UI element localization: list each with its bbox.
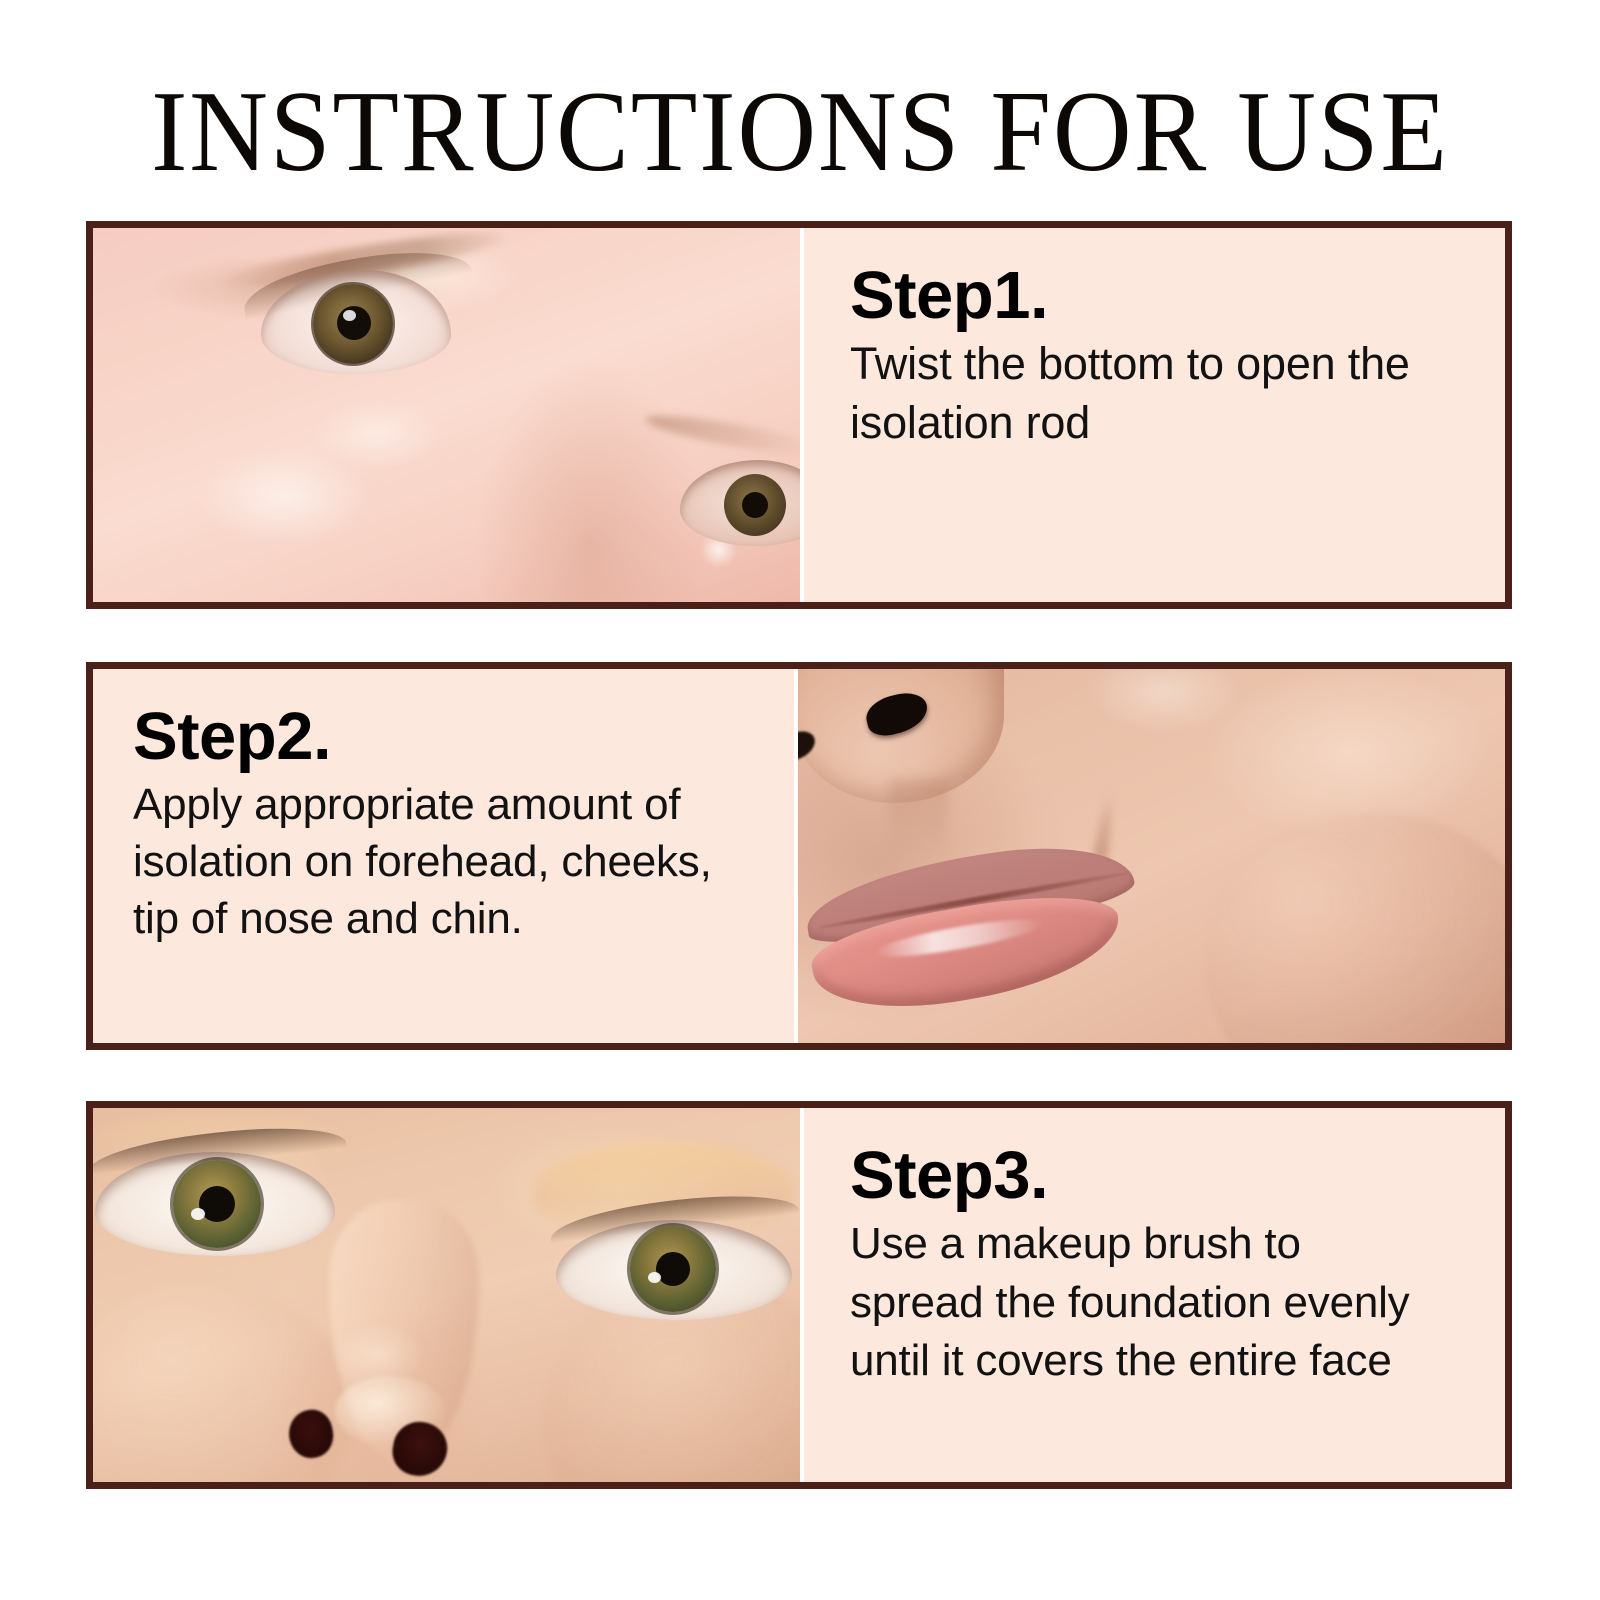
pupil-secondary-shape <box>742 492 768 518</box>
pupil-left-shape <box>199 1186 235 1222</box>
step-2-photo <box>794 669 1505 1043</box>
step-2-heading: Step2. <box>133 703 754 770</box>
eyebrow-secondary-shape <box>643 409 804 462</box>
step-1-body: Twist the bottom to open the isolation r… <box>850 335 1465 452</box>
philtrum-shape <box>890 779 948 859</box>
eye-right-glint <box>648 1272 661 1283</box>
eye-left-glint <box>191 1208 205 1220</box>
step-panel-3: Step3. Use a makeup brush to spread the … <box>86 1101 1512 1489</box>
panel-divider <box>800 1108 804 1482</box>
step-3-body: Use a makeup brush to spread the foundat… <box>850 1215 1465 1391</box>
eye-secondary-shape <box>680 460 804 546</box>
step-1-text-block: Step1. Twist the bottom to open the isol… <box>804 228 1505 602</box>
step-1-photo <box>93 228 804 602</box>
step-3-heading: Step3. <box>850 1142 1465 1209</box>
step-3-text-block: Step3. Use a makeup brush to spread the … <box>804 1108 1505 1482</box>
step-1-heading: Step1. <box>850 262 1465 329</box>
step-2-body: Apply appropriate amount of isolation on… <box>133 776 754 948</box>
panel-divider <box>794 669 798 1043</box>
step-3-photo <box>93 1108 804 1482</box>
pupil-right-shape <box>656 1252 690 1286</box>
step-2-text-block: Step2. Apply appropriate amount of isola… <box>93 669 794 1043</box>
step-panel-1: Step1. Twist the bottom to open the isol… <box>86 221 1512 609</box>
page-title: INSTRUCTIONS FOR USE <box>48 74 1552 190</box>
jawline-shape <box>1205 813 1505 1043</box>
step-panel-2: Step2. Apply appropriate amount of isola… <box>86 662 1512 1050</box>
panel-divider <box>800 228 804 602</box>
